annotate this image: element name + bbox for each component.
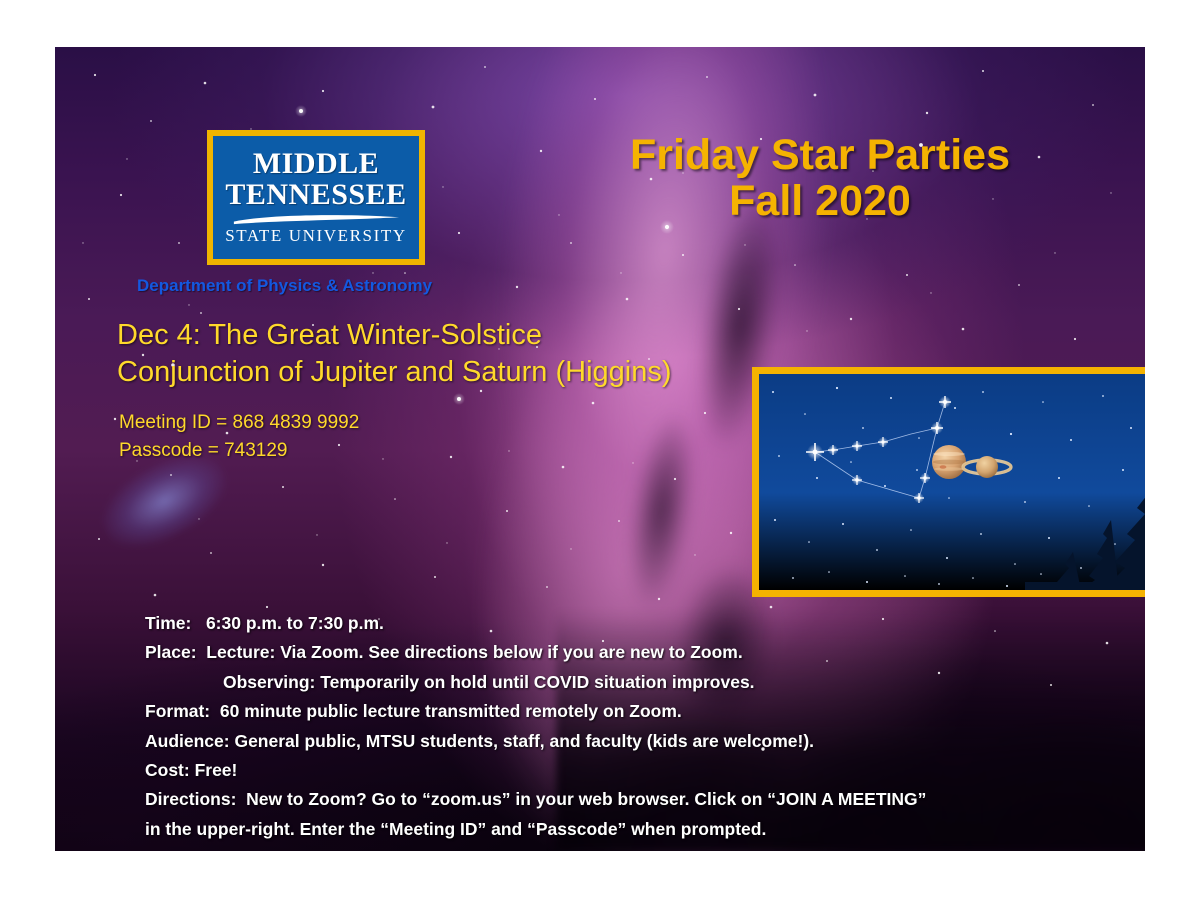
detail-cost: Cost: Free! [145, 756, 1125, 785]
logo-line-tennessee: TENNESSEE [225, 180, 406, 210]
logo-line-state-university: STATE UNIVERSITY [225, 227, 406, 244]
event-heading: Dec 4: The Great Winter-Solstice Conjunc… [117, 317, 757, 391]
detail-directions-line-2: in the upper-right. Enter the “Meeting I… [145, 815, 1125, 844]
detail-format: Format: 60 minute public lecture transmi… [145, 697, 1125, 726]
zoom-credentials: Meeting ID = 868 4839 9992 Passcode = 74… [119, 409, 359, 464]
mtsu-logo-field: MIDDLE TENNESSEE STATE UNIVERSITY [213, 136, 419, 259]
logo-line-middle: MIDDLE [253, 149, 379, 179]
title-line-2: Fall 2020 [560, 178, 1080, 224]
meeting-id: Meeting ID = 868 4839 9992 [119, 409, 359, 437]
page-title: Friday Star Parties Fall 2020 [560, 132, 1080, 225]
poster-page: MIDDLE TENNESSEE STATE UNIVERSITY Friday… [0, 0, 1200, 899]
department-label: Department of Physics & Astronomy [137, 276, 432, 296]
event-line-2: Conjunction of Jupiter and Saturn (Higgi… [117, 354, 757, 391]
detail-place: Place: Lecture: Via Zoom. See directions… [145, 638, 1125, 667]
jupiter [932, 445, 966, 479]
conjunction-image [759, 374, 1145, 590]
title-line-1: Friday Star Parties [560, 132, 1080, 178]
detail-audience: Audience: General public, MTSU students,… [145, 727, 1125, 756]
conjunction-image-frame [752, 367, 1145, 597]
slide-canvas: MIDDLE TENNESSEE STATE UNIVERSITY Friday… [55, 47, 1145, 851]
logo-swoosh-icon [232, 213, 401, 225]
passcode: Passcode = 743129 [119, 437, 359, 465]
detail-directions-line-1: Directions: New to Zoom? Go to “zoom.us”… [145, 785, 1125, 814]
event-details: Time: 6:30 p.m. to 7:30 p.m. Place: Lect… [145, 609, 1125, 844]
detail-time: Time: 6:30 p.m. to 7:30 p.m. [145, 609, 1125, 638]
detail-observing: Observing: Temporarily on hold until COV… [145, 668, 1125, 697]
mtsu-logo: MIDDLE TENNESSEE STATE UNIVERSITY [207, 130, 425, 265]
event-line-1: Dec 4: The Great Winter-Solstice [117, 317, 757, 354]
